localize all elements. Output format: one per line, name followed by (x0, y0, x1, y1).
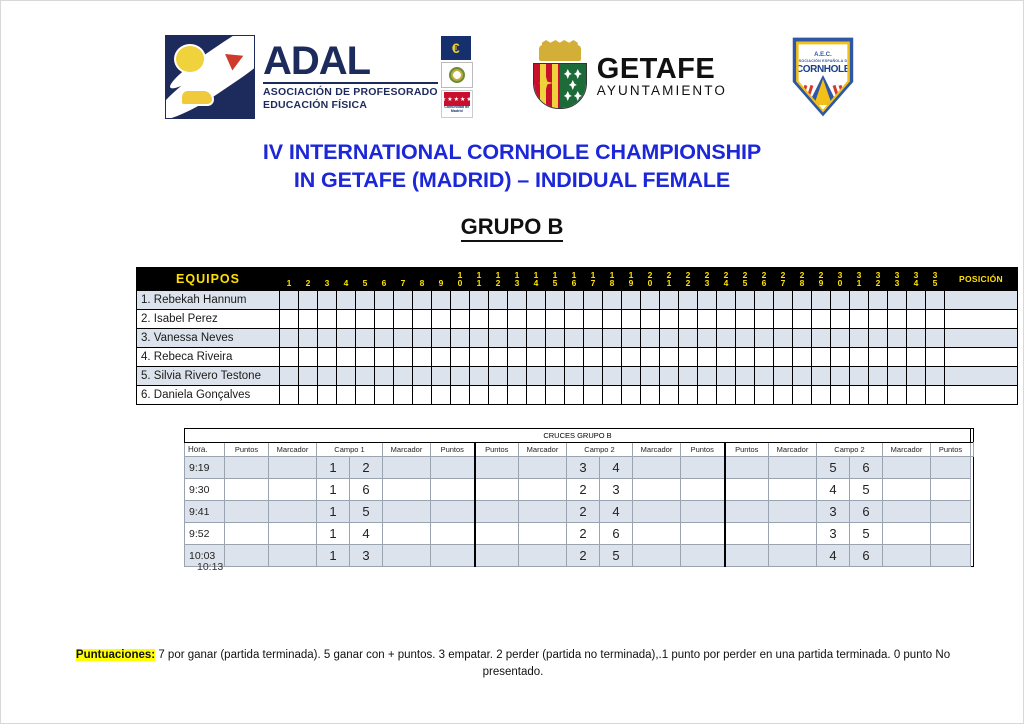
standings-score-cell[interactable] (793, 310, 812, 329)
standings-score-cell[interactable] (584, 367, 603, 386)
cruces-marcador-cell[interactable] (883, 501, 931, 523)
standings-score-cell[interactable] (508, 329, 527, 348)
standings-score-cell[interactable] (660, 291, 679, 310)
standings-score-cell[interactable] (755, 348, 774, 367)
standings-score-cell[interactable] (812, 367, 831, 386)
standings-score-cell[interactable] (660, 329, 679, 348)
standings-score-cell[interactable] (736, 291, 755, 310)
cruces-puntos-cell[interactable] (725, 457, 769, 479)
standings-score-cell[interactable] (679, 291, 698, 310)
standings-score-cell[interactable] (831, 291, 850, 310)
standings-score-cell[interactable] (565, 291, 584, 310)
standings-score-cell[interactable] (337, 348, 356, 367)
cruces-puntos-cell[interactable] (681, 501, 725, 523)
standings-score-cell[interactable] (679, 329, 698, 348)
standings-score-cell[interactable] (679, 386, 698, 405)
standings-score-cell[interactable] (850, 310, 869, 329)
standings-score-cell[interactable] (470, 348, 489, 367)
cruces-marcador-cell[interactable] (269, 501, 317, 523)
standings-score-cell[interactable] (470, 367, 489, 386)
cruces-marcador-cell[interactable] (519, 545, 567, 567)
standings-score-cell[interactable] (641, 291, 660, 310)
standings-score-cell[interactable] (432, 348, 451, 367)
standings-score-cell[interactable] (869, 310, 888, 329)
standings-score-cell[interactable] (641, 348, 660, 367)
standings-score-cell[interactable] (432, 310, 451, 329)
standings-score-cell[interactable] (831, 310, 850, 329)
standings-score-cell[interactable] (337, 291, 356, 310)
standings-score-cell[interactable] (546, 310, 565, 329)
standings-score-cell[interactable] (337, 329, 356, 348)
standings-score-cell[interactable] (717, 329, 736, 348)
standings-score-cell[interactable] (907, 348, 926, 367)
standings-score-cell[interactable] (622, 386, 641, 405)
cruces-marcador-cell[interactable] (519, 523, 567, 545)
standings-score-cell[interactable] (717, 348, 736, 367)
standings-score-cell[interactable] (565, 329, 584, 348)
standings-score-cell[interactable] (717, 310, 736, 329)
cruces-marcador-cell[interactable] (769, 545, 817, 567)
standings-score-cell[interactable] (850, 386, 869, 405)
cruces-puntos-cell[interactable] (725, 523, 769, 545)
cruces-puntos-cell[interactable] (931, 501, 971, 523)
cruces-puntos-cell[interactable] (725, 479, 769, 501)
standings-table: EQUIPOS 1 2 3 4 5 6 7 8 9101112131415161… (136, 267, 1018, 405)
standings-position-cell[interactable] (945, 310, 1018, 329)
standings-score-cell[interactable] (869, 348, 888, 367)
standings-score-cell[interactable] (394, 367, 413, 386)
standings-round-header-5: 5 (356, 268, 375, 291)
getafe-wordmark: GETAFE (597, 56, 727, 84)
standings-score-cell[interactable] (641, 367, 660, 386)
standings-score-cell[interactable] (489, 329, 508, 348)
cruces-marcador-cell[interactable] (769, 523, 817, 545)
standings-score-cell[interactable] (299, 367, 318, 386)
cruces-puntos-cell[interactable] (681, 545, 725, 567)
standings-score-cell[interactable] (299, 329, 318, 348)
standings-score-cell[interactable] (869, 329, 888, 348)
cruces-marcador-cell[interactable] (383, 523, 431, 545)
cruces-marcador-cell[interactable] (769, 479, 817, 501)
standings-score-cell[interactable] (774, 386, 793, 405)
standings-score-cell[interactable] (831, 386, 850, 405)
standings-score-cell[interactable] (280, 367, 299, 386)
cruces-marcador-cell[interactable] (269, 523, 317, 545)
cruces-puntos-cell[interactable] (475, 523, 519, 545)
standings-score-cell[interactable] (489, 291, 508, 310)
standings-score-cell[interactable] (660, 348, 679, 367)
cruces-puntos-cell[interactable] (475, 545, 519, 567)
standings-score-cell[interactable] (489, 348, 508, 367)
standings-score-cell[interactable] (527, 291, 546, 310)
standings-team-name: 6. Daniela Gonçalves (137, 386, 280, 405)
standings-score-cell[interactable] (451, 348, 470, 367)
cruces-puntos-cell[interactable] (225, 501, 269, 523)
standings-score-cell[interactable] (926, 348, 945, 367)
standings-score-cell[interactable] (698, 291, 717, 310)
standings-score-cell[interactable] (356, 329, 375, 348)
standings-score-cell[interactable] (641, 329, 660, 348)
standings-score-cell[interactable] (926, 329, 945, 348)
standings-score-cell[interactable] (907, 386, 926, 405)
standings-score-cell[interactable] (451, 310, 470, 329)
cruces-marcador-cell[interactable] (769, 457, 817, 479)
standings-position-cell[interactable] (945, 348, 1018, 367)
standings-score-cell[interactable] (451, 291, 470, 310)
standings-score-cell[interactable] (698, 329, 717, 348)
standings-score-cell[interactable] (546, 348, 565, 367)
standings-score-cell[interactable] (527, 386, 546, 405)
cruces-marcador-cell[interactable] (383, 545, 431, 567)
standings-score-cell[interactable] (527, 329, 546, 348)
cruces-marcador-cell[interactable] (519, 479, 567, 501)
standings-score-cell[interactable] (926, 291, 945, 310)
cruces-puntos-cell[interactable] (431, 545, 475, 567)
standings-score-cell[interactable] (394, 310, 413, 329)
standings-score-cell[interactable] (622, 329, 641, 348)
cruces-puntos-cell[interactable] (475, 457, 519, 479)
cruces-marcador-cell[interactable] (383, 457, 431, 479)
standings-score-cell[interactable] (660, 367, 679, 386)
cruces-puntos-cell[interactable] (681, 479, 725, 501)
standings-score-cell[interactable] (584, 386, 603, 405)
cornhole-assoc-text: ASOCIACIÓN ESPAÑOLA DE (794, 59, 852, 63)
cruces-puntos-cell[interactable] (475, 501, 519, 523)
standings-score-cell[interactable] (622, 310, 641, 329)
cruces-puntos-cell[interactable] (931, 545, 971, 567)
standings-score-cell[interactable] (432, 367, 451, 386)
standings-score-cell[interactable] (831, 348, 850, 367)
standings-score-cell[interactable] (584, 329, 603, 348)
standings-score-cell[interactable] (318, 291, 337, 310)
standings-score-cell[interactable] (603, 291, 622, 310)
standings-score-cell[interactable] (926, 386, 945, 405)
standings-score-cell[interactable] (907, 367, 926, 386)
standings-score-cell[interactable] (793, 329, 812, 348)
standings-score-cell[interactable] (774, 291, 793, 310)
standings-score-cell[interactable] (736, 367, 755, 386)
document-page: ADAL ASOCIACIÓN DE PROFESORADO EDUCACIÓN… (0, 0, 1024, 724)
standings-score-cell[interactable] (280, 348, 299, 367)
standings-score-cell[interactable] (717, 386, 736, 405)
standings-score-cell[interactable] (280, 310, 299, 329)
cruces-marcador-cell[interactable] (519, 457, 567, 479)
standings-score-cell[interactable] (413, 386, 432, 405)
standings-score-cell[interactable] (888, 386, 907, 405)
standings-score-cell[interactable] (451, 386, 470, 405)
standings-score-cell[interactable] (641, 310, 660, 329)
standings-score-cell[interactable] (717, 291, 736, 310)
standings-score-cell[interactable] (375, 291, 394, 310)
standings-score-cell[interactable] (907, 310, 926, 329)
cruces-col-header-marcador: Marcador (269, 443, 317, 457)
standings-score-cell[interactable] (907, 329, 926, 348)
standings-score-cell[interactable] (527, 348, 546, 367)
standings-position-cell[interactable] (945, 386, 1018, 405)
standings-score-cell[interactable] (356, 291, 375, 310)
standings-score-cell[interactable] (432, 386, 451, 405)
standings-score-cell[interactable] (489, 367, 508, 386)
standings-score-cell[interactable] (318, 367, 337, 386)
standings-score-cell[interactable] (299, 291, 318, 310)
standings-score-cell[interactable] (869, 291, 888, 310)
standings-score-cell[interactable] (850, 291, 869, 310)
standings-score-cell[interactable] (394, 386, 413, 405)
standings-score-cell[interactable] (565, 310, 584, 329)
cruces-puntos-cell[interactable] (681, 523, 725, 545)
standings-score-cell[interactable] (337, 310, 356, 329)
cruces-marcador-cell[interactable] (383, 479, 431, 501)
standings-score-cell[interactable] (698, 367, 717, 386)
standings-score-cell[interactable] (812, 329, 831, 348)
standings-score-cell[interactable] (812, 386, 831, 405)
standings-score-cell[interactable] (394, 291, 413, 310)
standings-score-cell[interactable] (375, 310, 394, 329)
standings-score-cell[interactable] (299, 386, 318, 405)
cruces-puntos-cell[interactable] (725, 501, 769, 523)
standings-score-cell[interactable] (470, 329, 489, 348)
cruces-player-b-cell: 6 (600, 523, 633, 545)
cruces-marcador-cell[interactable] (383, 501, 431, 523)
cruces-puntos-cell[interactable] (225, 545, 269, 567)
cruces-marcador-cell[interactable] (633, 523, 681, 545)
cruces-puntos-cell[interactable] (431, 501, 475, 523)
cruces-puntos-cell[interactable] (431, 523, 475, 545)
standings-position-cell[interactable] (945, 291, 1018, 310)
standings-score-cell[interactable] (318, 386, 337, 405)
standings-score-cell[interactable] (850, 329, 869, 348)
cruces-puntos-cell[interactable] (431, 457, 475, 479)
standings-score-cell[interactable] (413, 291, 432, 310)
standings-score-cell[interactable] (299, 310, 318, 329)
cruces-marcador-cell[interactable] (883, 457, 931, 479)
standings-score-cell[interactable] (698, 386, 717, 405)
scoring-note: Puntuaciones: 7 por ganar (partida termi… (73, 647, 953, 682)
standings-score-cell[interactable] (508, 348, 527, 367)
standings-score-cell[interactable] (774, 310, 793, 329)
table-row: 9:41 15 24 36 (185, 501, 974, 523)
standings-score-cell[interactable] (356, 310, 375, 329)
standings-score-cell[interactable] (451, 329, 470, 348)
standings-score-cell[interactable] (356, 367, 375, 386)
standings-score-cell[interactable] (337, 367, 356, 386)
standings-round-header-21: 21 (660, 268, 679, 291)
standings-score-cell[interactable] (584, 310, 603, 329)
cruces-puntos-cell[interactable] (931, 523, 971, 545)
standings-score-cell[interactable] (318, 310, 337, 329)
standings-score-cell[interactable] (546, 329, 565, 348)
standings-score-cell[interactable] (546, 386, 565, 405)
cruces-marcador-cell[interactable] (883, 523, 931, 545)
standings-position-cell[interactable] (945, 367, 1018, 386)
standings-score-cell[interactable] (641, 386, 660, 405)
standings-score-cell[interactable] (508, 310, 527, 329)
cruces-puntos-cell[interactable] (931, 479, 971, 501)
standings-score-cell[interactable] (280, 329, 299, 348)
standings-score-cell[interactable] (869, 367, 888, 386)
standings-score-cell[interactable] (850, 348, 869, 367)
standings-position-cell[interactable] (945, 329, 1018, 348)
standings-score-cell[interactable] (413, 367, 432, 386)
standings-score-cell[interactable] (679, 348, 698, 367)
standings-score-cell[interactable] (888, 310, 907, 329)
standings-round-header-30: 30 (831, 268, 850, 291)
standings-score-cell[interactable] (603, 386, 622, 405)
standings-score-cell[interactable] (394, 348, 413, 367)
standings-score-cell[interactable] (736, 310, 755, 329)
cruces-marcador-cell[interactable] (269, 457, 317, 479)
standings-score-cell[interactable] (508, 386, 527, 405)
standings-score-cell[interactable] (869, 386, 888, 405)
standings-score-cell[interactable] (888, 329, 907, 348)
standings-score-cell[interactable] (356, 348, 375, 367)
standings-score-cell[interactable] (622, 291, 641, 310)
cruces-puntos-cell[interactable] (225, 523, 269, 545)
standings-score-cell[interactable] (375, 367, 394, 386)
standings-score-cell[interactable] (736, 348, 755, 367)
standings-score-cell[interactable] (850, 367, 869, 386)
standings-score-cell[interactable] (660, 386, 679, 405)
standings-score-cell[interactable] (755, 310, 774, 329)
standings-score-cell[interactable] (565, 386, 584, 405)
standings-score-cell[interactable] (926, 310, 945, 329)
standings-score-cell[interactable] (679, 310, 698, 329)
standings-score-cell[interactable] (736, 329, 755, 348)
standings-score-cell[interactable] (812, 310, 831, 329)
cruces-player-a-cell: 1 (317, 523, 350, 545)
cruces-puntos-cell[interactable] (225, 479, 269, 501)
cruces-puntos-cell[interactable] (725, 545, 769, 567)
standings-score-cell[interactable] (603, 329, 622, 348)
standings-score-cell[interactable] (603, 348, 622, 367)
standings-score-cell[interactable] (394, 329, 413, 348)
standings-score-cell[interactable] (470, 291, 489, 310)
standings-score-cell[interactable] (679, 367, 698, 386)
cruces-puntos-cell[interactable] (475, 479, 519, 501)
standings-score-cell[interactable] (546, 367, 565, 386)
standings-score-cell[interactable] (812, 291, 831, 310)
cruces-marcador-cell[interactable] (769, 501, 817, 523)
standings-score-cell[interactable] (755, 329, 774, 348)
standings-score-cell[interactable] (717, 367, 736, 386)
cruces-marcador-cell[interactable] (633, 545, 681, 567)
standings-score-cell[interactable] (337, 386, 356, 405)
standings-score-cell[interactable] (584, 291, 603, 310)
cruces-trailing-time: 10:13 (197, 561, 223, 573)
standings-score-cell[interactable] (907, 291, 926, 310)
cruces-puntos-cell[interactable] (431, 479, 475, 501)
standings-score-cell[interactable] (527, 367, 546, 386)
standings-score-cell[interactable] (280, 386, 299, 405)
standings-score-cell[interactable] (413, 348, 432, 367)
cruces-puntos-cell[interactable] (225, 457, 269, 479)
standings-score-cell[interactable] (774, 329, 793, 348)
standings-score-cell[interactable] (318, 329, 337, 348)
standings-score-cell[interactable] (375, 329, 394, 348)
standings-score-cell[interactable] (565, 348, 584, 367)
standings-score-cell[interactable] (698, 310, 717, 329)
standings-score-cell[interactable] (926, 367, 945, 386)
table-row: 2. Isabel Perez (137, 310, 1018, 329)
standings-score-cell[interactable] (470, 310, 489, 329)
standings-score-cell[interactable] (413, 329, 432, 348)
standings-score-cell[interactable] (660, 310, 679, 329)
standings-score-cell[interactable] (508, 291, 527, 310)
standings-score-cell[interactable] (546, 291, 565, 310)
cruces-marcador-cell[interactable] (269, 545, 317, 567)
standings-score-cell[interactable] (755, 291, 774, 310)
standings-score-cell[interactable] (375, 348, 394, 367)
cruces-puntos-cell[interactable] (931, 457, 971, 479)
standings-score-cell[interactable] (736, 386, 755, 405)
standings-score-cell[interactable] (793, 367, 812, 386)
standings-round-header-29: 29 (812, 268, 831, 291)
standings-score-cell[interactable] (603, 310, 622, 329)
standings-score-cell[interactable] (375, 386, 394, 405)
standings-score-cell[interactable] (793, 291, 812, 310)
standings-score-cell[interactable] (432, 291, 451, 310)
standings-score-cell[interactable] (888, 348, 907, 367)
standings-score-cell[interactable] (527, 310, 546, 329)
standings-score-cell[interactable] (888, 367, 907, 386)
certification-badge-icon (441, 62, 473, 88)
standings-score-cell[interactable] (356, 386, 375, 405)
cruces-marcador-cell[interactable] (269, 479, 317, 501)
standings-score-cell[interactable] (698, 348, 717, 367)
standings-round-header-14: 14 (527, 268, 546, 291)
cruces-marcador-cell[interactable] (633, 501, 681, 523)
standings-score-cell[interactable] (584, 348, 603, 367)
scoring-note-label: Puntuaciones: (76, 649, 155, 661)
table-row: 9:52 14 26 35 (185, 523, 974, 545)
cruces-player-b-cell: 3 (350, 545, 383, 567)
cruces-marcador-cell[interactable] (633, 479, 681, 501)
standings-score-cell[interactable] (812, 348, 831, 367)
standings-score-cell[interactable] (793, 386, 812, 405)
table-row: 1. Rebekah Hannum (137, 291, 1018, 310)
standings-score-cell[interactable] (755, 386, 774, 405)
standings-score-cell[interactable] (831, 367, 850, 386)
standings-score-cell[interactable] (508, 367, 527, 386)
standings-score-cell[interactable] (489, 386, 508, 405)
standings-score-cell[interactable] (603, 367, 622, 386)
standings-score-cell[interactable] (793, 348, 812, 367)
cruces-marcador-cell[interactable] (883, 479, 931, 501)
standings-score-cell[interactable] (451, 367, 470, 386)
standings-score-cell[interactable] (413, 310, 432, 329)
standings-score-cell[interactable] (888, 291, 907, 310)
cruces-marcador-cell[interactable] (633, 457, 681, 479)
standings-score-cell[interactable] (774, 367, 793, 386)
standings-score-cell[interactable] (432, 329, 451, 348)
cruces-marcador-cell[interactable] (883, 545, 931, 567)
standings-score-cell[interactable] (622, 348, 641, 367)
standings-score-cell[interactable] (565, 367, 584, 386)
standings-score-cell[interactable] (318, 348, 337, 367)
standings-round-header-16: 16 (565, 268, 584, 291)
standings-score-cell[interactable] (755, 367, 774, 386)
standings-score-cell[interactable] (470, 386, 489, 405)
standings-team-name: 3. Vanessa Neves (137, 329, 280, 348)
cruces-puntos-cell[interactable] (681, 457, 725, 479)
standings-score-cell[interactable] (622, 367, 641, 386)
standings-score-cell[interactable] (774, 348, 793, 367)
cruces-marcador-cell[interactable] (519, 501, 567, 523)
standings-score-cell[interactable] (831, 329, 850, 348)
standings-score-cell[interactable] (489, 310, 508, 329)
standings-score-cell[interactable] (299, 348, 318, 367)
standings-score-cell[interactable] (280, 291, 299, 310)
